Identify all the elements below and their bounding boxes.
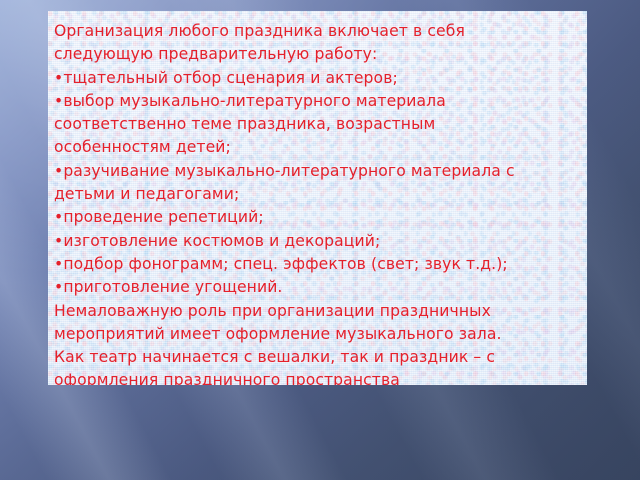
paragraph-line: следующую предварительную работу: <box>54 43 577 66</box>
bullet-icon: • <box>54 92 63 110</box>
bullet-list-item: •тщательный отбор сценария и актеров; <box>54 67 577 90</box>
bullet-icon: • <box>54 162 63 180</box>
paragraph-line: Организация любого праздника включает в … <box>54 20 577 43</box>
bullet-list-item: •разучивание музыкально-литературного ма… <box>54 160 577 183</box>
slide-canvas: Организация любого праздника включает в … <box>0 0 640 480</box>
bullet-icon: • <box>54 278 63 296</box>
bullet-icon: • <box>54 69 63 87</box>
bullet-list-item: •выбор музыкально-литературного материал… <box>54 90 577 113</box>
text-content-panel: Организация любого праздника включает в … <box>48 11 587 385</box>
paragraph-line: оформления праздничного пространства <box>54 369 577 385</box>
paragraph-line: Немаловажную роль при организации праздн… <box>54 300 577 323</box>
bullet-list-item-label: выбор музыкально-литературного материала <box>63 92 446 110</box>
bullet-list-item: •подбор фонограмм; спец. эффектов (свет;… <box>54 253 577 276</box>
paragraph-line: мероприятий имеет оформление музыкальног… <box>54 323 577 346</box>
bullet-list-item: •приготовление угощений. <box>54 276 577 299</box>
bullet-list-item-label: тщательный отбор сценария и актеров; <box>63 69 398 87</box>
slide-text-block: Организация любого праздника включает в … <box>54 20 577 385</box>
bullet-list-item-label: разучивание музыкально-литературного мат… <box>63 162 514 180</box>
paragraph-line: Как театр начинается с вешалки, так и пр… <box>54 346 577 369</box>
bullet-list-item: •проведение репетиций; <box>54 206 577 229</box>
bullet-icon: • <box>54 232 63 250</box>
bullet-list-item-label: подбор фонограмм; спец. эффектов (свет; … <box>63 255 507 273</box>
bullet-list-item: •изготовление костюмов и декораций; <box>54 230 577 253</box>
bullet-icon: • <box>54 208 63 226</box>
bullet-list-item-label: проведение репетиций; <box>63 208 263 226</box>
bullet-list-item-label: изготовление костюмов и декораций; <box>63 232 380 250</box>
paragraph-line: детьми и педагогами; <box>54 183 577 206</box>
bullet-icon: • <box>54 255 63 273</box>
bullet-list-item-label: приготовление угощений. <box>63 278 282 296</box>
paragraph-line: особенностям детей; <box>54 136 577 159</box>
paragraph-line: соответственно теме праздника, возрастны… <box>54 113 577 136</box>
